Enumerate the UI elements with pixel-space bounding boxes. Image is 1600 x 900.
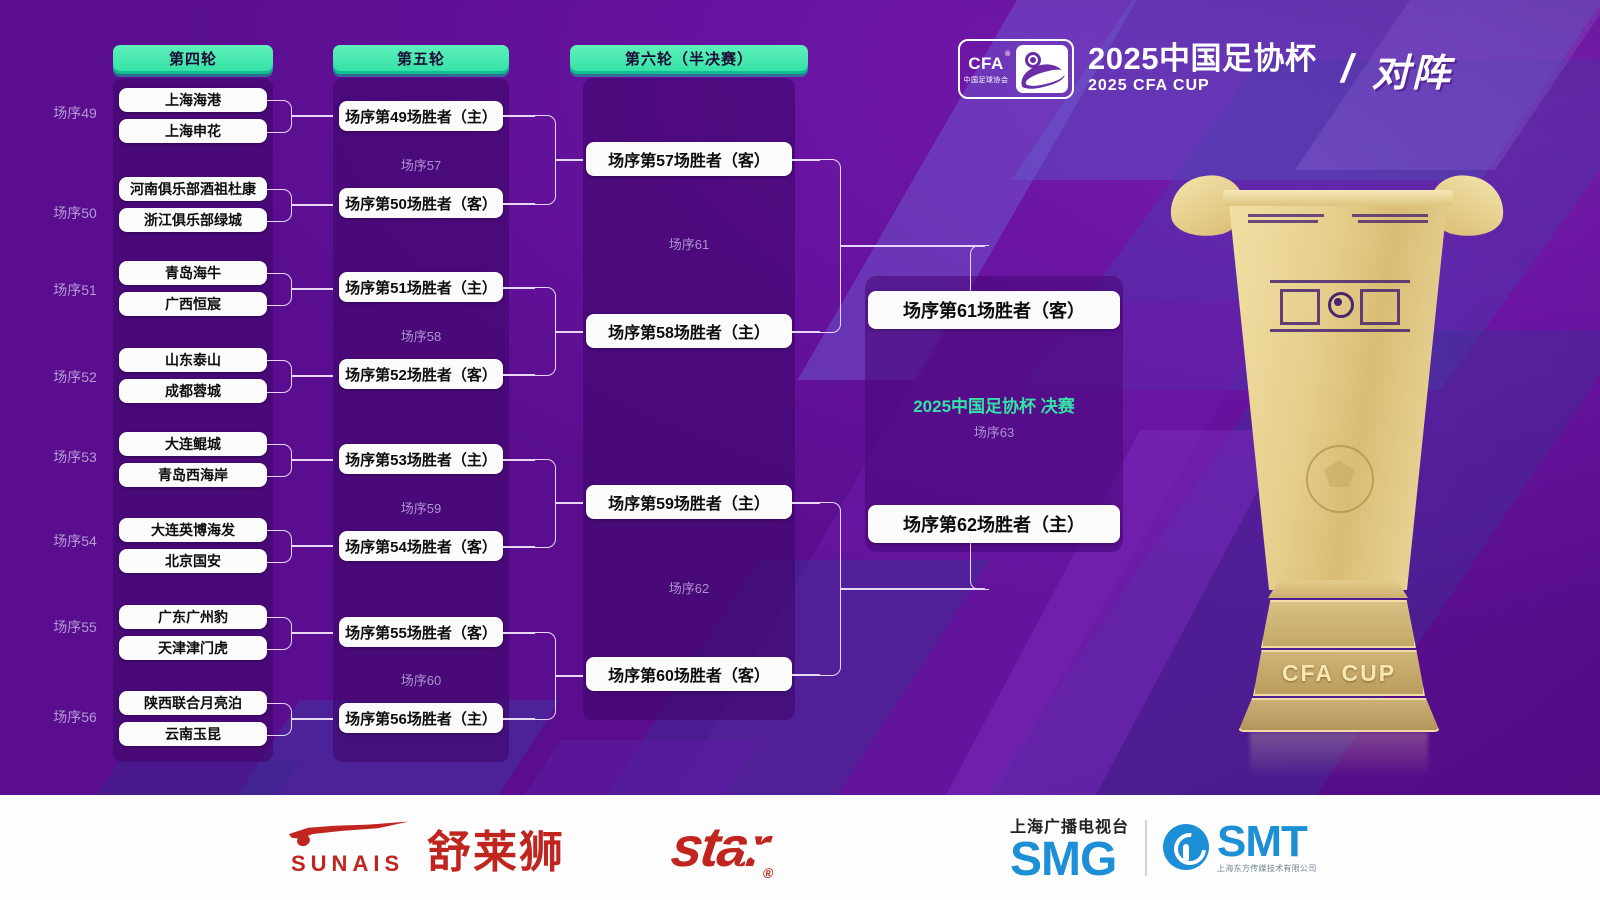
connector-line xyxy=(503,546,535,548)
connector-line xyxy=(840,588,985,590)
team-box[interactable]: 广西恒宸 xyxy=(119,292,267,316)
watermark-text: @中国足协杯 xyxy=(1402,846,1527,876)
connector-elbow xyxy=(267,273,292,306)
connector-line xyxy=(503,203,535,205)
sunais-wordmark: SUNAIS xyxy=(291,851,404,877)
trophy-neck xyxy=(1268,580,1408,598)
team-box[interactable]: 北京国安 xyxy=(119,549,267,573)
semi-box[interactable]: 场序第57场胜者（客） xyxy=(586,142,792,176)
connector-line xyxy=(291,459,333,461)
match-seq-60: 场序60 xyxy=(339,670,503,689)
connector-elbow xyxy=(267,703,292,736)
connector-elbow xyxy=(535,287,556,376)
football-icon xyxy=(1025,52,1041,68)
team-box[interactable]: 浙江俱乐部绿城 xyxy=(119,208,267,232)
smt-wordmark: SMT xyxy=(1217,821,1317,863)
trophy-reflection xyxy=(1250,732,1428,778)
round-header-6: 第六轮（半决赛） xyxy=(570,45,808,71)
round5-panel xyxy=(333,78,509,762)
trophy-football-icon xyxy=(1306,445,1374,513)
team-box[interactable]: 青岛海牛 xyxy=(119,261,267,285)
trophy-pattern-pupil xyxy=(1334,298,1342,306)
sunais-logo: SUNAIS 舒莱狮 xyxy=(285,816,565,880)
connector-line xyxy=(792,331,820,333)
smg-logo-group: 上海广播电视台 SMG SMT 上海东方传媒技术有限公司 xyxy=(1010,813,1317,883)
slot-box[interactable]: 场序第56场胜者（主） xyxy=(339,703,503,733)
trophy-label: CFA CUP xyxy=(1282,660,1396,687)
match-seq-50: 场序50 xyxy=(40,203,110,223)
registered-icon: ® xyxy=(762,865,773,881)
slot-box[interactable]: 场序第52场胜者（客） xyxy=(339,359,503,389)
match-seq-56: 场序56 xyxy=(40,707,110,727)
connector-line xyxy=(792,159,820,161)
connector-line xyxy=(503,115,535,117)
match-seq-54: 场序54 xyxy=(40,531,110,551)
connector-line xyxy=(291,204,333,206)
trophy-base-lower xyxy=(1238,698,1440,732)
team-box[interactable]: 河南俱乐部酒祖杜康 xyxy=(119,177,267,201)
team-box[interactable]: 上海申花 xyxy=(119,119,267,143)
bracket-poster: 第四轮 第五轮 第六轮（半决赛） 场序49 场序50 场序51 场序52 场序5… xyxy=(0,0,1600,900)
watermark: @中国足协杯 xyxy=(1372,846,1527,876)
final-seq: 场序63 xyxy=(865,422,1123,441)
smt-logo: SMT 上海东方传媒技术有限公司 xyxy=(1163,821,1317,874)
section-title: 对阵 xyxy=(1372,42,1452,97)
match-seq-58: 场序58 xyxy=(339,326,503,345)
cfa-abbr-text: CFA xyxy=(968,54,1004,73)
connector-line xyxy=(503,459,535,461)
smg-wordmark: SMG xyxy=(1010,837,1116,883)
trophy-base-middle: CFA CUP xyxy=(1253,650,1425,696)
trophy-rim xyxy=(1223,190,1453,206)
sunais-chinese-name: 舒莱狮 xyxy=(427,816,565,880)
connector-elbow xyxy=(267,189,292,222)
semi-box[interactable]: 场序第59场胜者（主） xyxy=(586,485,792,519)
slot-box[interactable]: 场序第49场胜者（主） xyxy=(339,101,503,131)
slot-box[interactable]: 场序第50场胜者（客） xyxy=(339,188,503,218)
connector-line xyxy=(792,502,820,504)
trophy-illustration: CFA CUP xyxy=(1178,150,1498,770)
match-seq-52: 场序52 xyxy=(40,367,110,387)
star-logo: star® xyxy=(667,814,780,881)
connector-line xyxy=(291,545,333,547)
sponsor-star: star® xyxy=(672,795,775,900)
connector-elbow xyxy=(267,360,292,393)
header-titles: 2025中国足协杯 2025 CFA CUP xyxy=(1088,43,1316,94)
semi-box[interactable]: 场序第60场胜者（客） xyxy=(586,657,792,691)
cfa-emblem xyxy=(1016,45,1068,93)
sponsor-smg: 上海广播电视台 SMG SMT 上海东方传媒技术有限公司 xyxy=(1010,795,1317,900)
smt-text-block: SMT 上海东方传媒技术有限公司 xyxy=(1217,821,1317,874)
round-header-4: 第四轮 xyxy=(113,45,273,71)
connector-elbow xyxy=(535,115,556,205)
connector-line xyxy=(840,245,985,247)
slot-box[interactable]: 场序第54场胜者（客） xyxy=(339,531,503,561)
header-logo-block: CFA ® 中国足球协会 2025中国足协杯 2025 CFA CUP / 对阵 xyxy=(958,38,1452,100)
cfa-logo: CFA ® 中国足球协会 xyxy=(958,39,1074,99)
team-box[interactable]: 陕西联合月亮泊 xyxy=(119,691,267,715)
connector-line xyxy=(555,331,583,333)
team-box[interactable]: 大连鲲城 xyxy=(119,432,267,456)
final-title: 2025中国足协杯 决赛 xyxy=(865,392,1123,417)
connector-line xyxy=(503,374,535,376)
round-header-5: 第五轮 xyxy=(333,45,509,71)
match-seq-57: 场序57 xyxy=(339,155,503,174)
slot-box[interactable]: 场序第53场胜者（主） xyxy=(339,444,503,474)
smt-globe-icon xyxy=(1163,824,1209,870)
match-seq-61: 场序61 xyxy=(586,234,792,253)
smt-company-name: 上海东方传媒技术有限公司 xyxy=(1217,863,1317,874)
slot-box[interactable]: 场序第55场胜者（客） xyxy=(339,617,503,647)
connector-line xyxy=(503,718,535,720)
connector-line xyxy=(503,287,535,289)
connector-elbow xyxy=(267,617,292,650)
connector-elbow xyxy=(820,502,841,676)
slot-box[interactable]: 场序第51场胜者（主） xyxy=(339,272,503,302)
connector-line xyxy=(291,718,333,720)
team-box[interactable]: 云南玉昆 xyxy=(119,722,267,746)
team-box[interactable]: 上海海港 xyxy=(119,88,267,112)
connector-line xyxy=(555,675,583,677)
connector-line xyxy=(792,674,820,676)
team-box[interactable]: 大连英博海发 xyxy=(119,518,267,542)
trophy-bowl xyxy=(1223,190,1453,590)
connector-line xyxy=(503,632,535,634)
match-seq-49: 场序49 xyxy=(40,103,110,123)
connector-elbow xyxy=(267,444,292,477)
match-seq-62: 场序62 xyxy=(586,578,792,597)
team-box[interactable]: 成都蓉城 xyxy=(119,379,267,403)
connector-elbow xyxy=(267,100,292,133)
smg-logo: 上海广播电视台 SMG xyxy=(1010,813,1129,883)
final-top-box[interactable]: 场序第61场胜者（客） xyxy=(868,291,1120,329)
sunais-mark: SUNAIS xyxy=(285,819,415,877)
connector-elbow xyxy=(267,530,292,563)
team-box[interactable]: 天津津门虎 xyxy=(119,636,267,660)
connector-line xyxy=(555,502,583,504)
trophy-pattern-eye xyxy=(1328,292,1354,318)
connector-line xyxy=(555,159,583,161)
registered-icon: ® xyxy=(1005,51,1011,58)
connector-line xyxy=(291,288,333,290)
sponsor-bar: SUNAIS 舒莱狮 star® 上海广播电视台 SMG xyxy=(0,795,1600,900)
connector-elbow xyxy=(535,632,556,720)
match-seq-59: 场序59 xyxy=(339,498,503,517)
title-separator: / xyxy=(1338,47,1359,92)
connector-elbow xyxy=(535,459,556,548)
connector-line xyxy=(291,632,333,634)
match-seq-51: 场序51 xyxy=(40,280,110,300)
cup-title-en: 2025 CFA CUP xyxy=(1088,76,1316,95)
sponsor-sunais: SUNAIS 舒莱狮 xyxy=(285,795,565,900)
match-seq-55: 场序55 xyxy=(40,617,110,637)
match-seq-53: 场序53 xyxy=(40,447,110,467)
team-box[interactable]: 青岛西海岸 xyxy=(119,463,267,487)
weibo-icon xyxy=(1372,850,1398,872)
team-box[interactable]: 广东广州豹 xyxy=(119,605,267,629)
connector-elbow xyxy=(820,159,841,333)
cfa-chinese-name: 中国足球协会 xyxy=(964,75,1009,85)
connector-line xyxy=(291,375,333,377)
logo-divider xyxy=(1145,820,1147,876)
trophy-rim-lines xyxy=(1248,212,1428,228)
connector-line xyxy=(291,115,333,117)
cfa-logo-left: CFA ® 中国足球协会 xyxy=(960,41,1012,97)
trophy-base-upper xyxy=(1261,600,1416,648)
semi-box[interactable]: 场序第58场胜者（主） xyxy=(586,314,792,348)
cfa-abbr: CFA ® xyxy=(968,54,1004,74)
cup-title-cn: 2025中国足协杯 xyxy=(1088,43,1316,75)
final-bottom-box[interactable]: 场序第62场胜者（主） xyxy=(868,505,1120,543)
team-box[interactable]: 山东泰山 xyxy=(119,348,267,372)
